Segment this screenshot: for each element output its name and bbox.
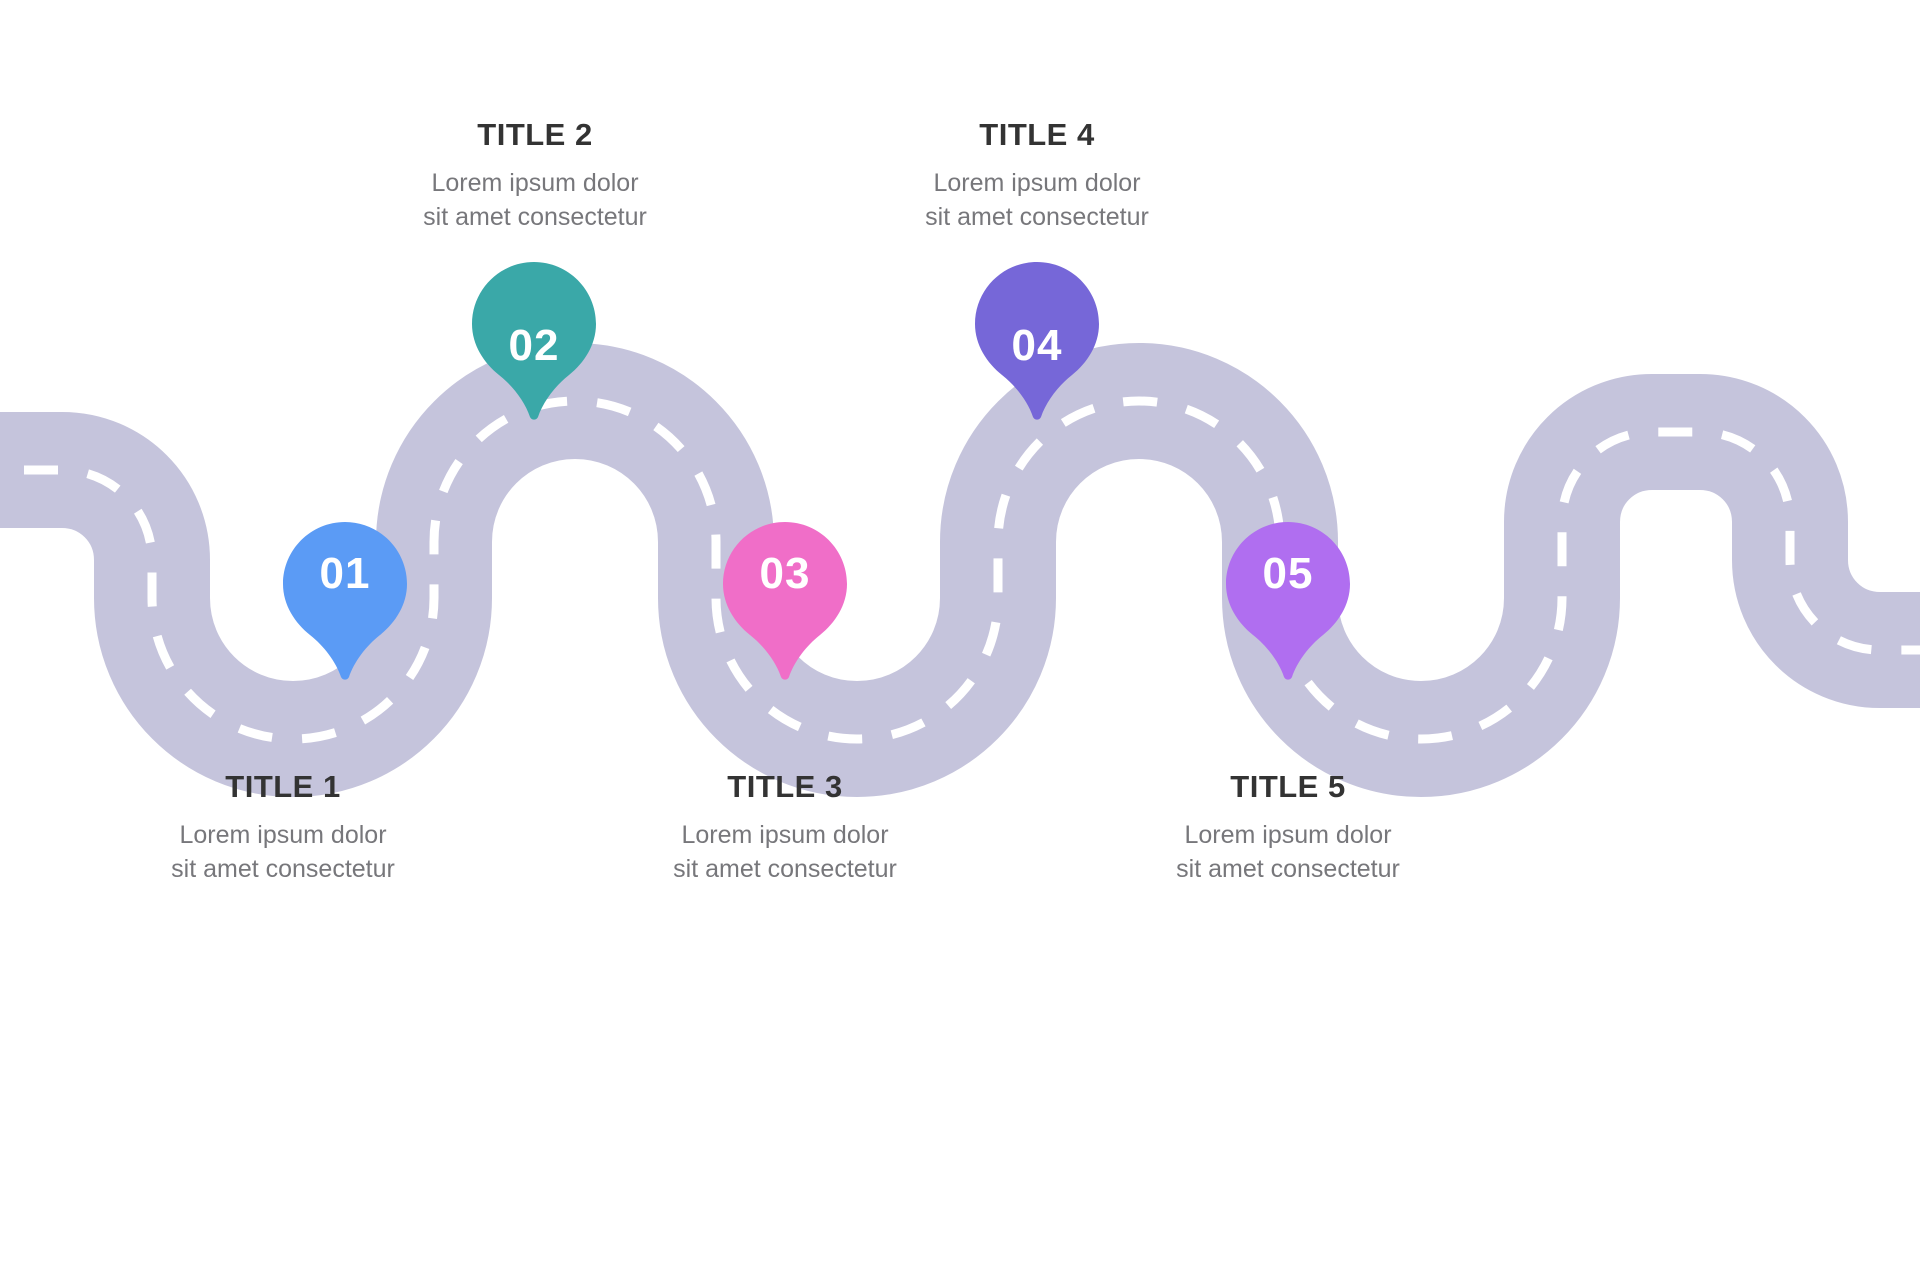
step-title-01: TITLE 1 xyxy=(118,770,448,804)
step-text-block-02: TITLE 2Lorem ipsum dolorsit amet consect… xyxy=(370,118,700,234)
map-pin-01[interactable]: 01 xyxy=(283,522,407,682)
step-title-05: TITLE 5 xyxy=(1123,770,1453,804)
step-title-04: TITLE 4 xyxy=(872,118,1202,152)
pin-svg-04 xyxy=(975,262,1099,422)
step-desc-line1-03: Lorem ipsum dolor xyxy=(626,818,944,852)
pin-svg-01 xyxy=(283,522,407,682)
pin-shape-03 xyxy=(723,522,847,680)
step-text-block-05: TITLE 5Lorem ipsum dolorsit amet consect… xyxy=(1123,770,1453,886)
step-desc-line1-01: Lorem ipsum dolor xyxy=(124,818,442,852)
map-pin-05[interactable]: 05 xyxy=(1226,522,1350,682)
pin-svg-03 xyxy=(723,522,847,682)
step-desc-line2-05: sit amet consectetur xyxy=(1129,852,1447,886)
step-text-block-04: TITLE 4Lorem ipsum dolorsit amet consect… xyxy=(872,118,1202,234)
step-text-block-01: TITLE 1Lorem ipsum dolorsit amet consect… xyxy=(118,770,448,886)
step-description-02: Lorem ipsum dolorsit amet consectetur xyxy=(370,166,700,234)
pin-shape-04 xyxy=(975,262,1099,420)
map-pin-04[interactable]: 04 xyxy=(975,262,1099,422)
map-pin-02[interactable]: 02 xyxy=(472,262,596,422)
step-desc-line2-02: sit amet consectetur xyxy=(376,200,694,234)
pin-svg-02 xyxy=(472,262,596,422)
step-description-01: Lorem ipsum dolorsit amet consectetur xyxy=(118,818,448,886)
step-title-03: TITLE 3 xyxy=(620,770,950,804)
step-desc-line2-01: sit amet consectetur xyxy=(124,852,442,886)
pin-shape-01 xyxy=(283,522,407,680)
pin-shape-02 xyxy=(472,262,596,420)
step-desc-line2-03: sit amet consectetur xyxy=(626,852,944,886)
step-desc-line2-04: sit amet consectetur xyxy=(878,200,1196,234)
pin-svg-05 xyxy=(1226,522,1350,682)
step-description-05: Lorem ipsum dolorsit amet consectetur xyxy=(1123,818,1453,886)
map-pin-03[interactable]: 03 xyxy=(723,522,847,682)
step-description-04: Lorem ipsum dolorsit amet consectetur xyxy=(872,166,1202,234)
step-text-block-03: TITLE 3Lorem ipsum dolorsit amet consect… xyxy=(620,770,950,886)
step-desc-line1-02: Lorem ipsum dolor xyxy=(376,166,694,200)
step-description-03: Lorem ipsum dolorsit amet consectetur xyxy=(620,818,950,886)
step-desc-line1-05: Lorem ipsum dolor xyxy=(1129,818,1447,852)
roadmap-infographic: TITLE 1Lorem ipsum dolorsit amet consect… xyxy=(0,0,1920,1280)
step-title-02: TITLE 2 xyxy=(370,118,700,152)
pin-shape-05 xyxy=(1226,522,1350,680)
step-desc-line1-04: Lorem ipsum dolor xyxy=(878,166,1196,200)
